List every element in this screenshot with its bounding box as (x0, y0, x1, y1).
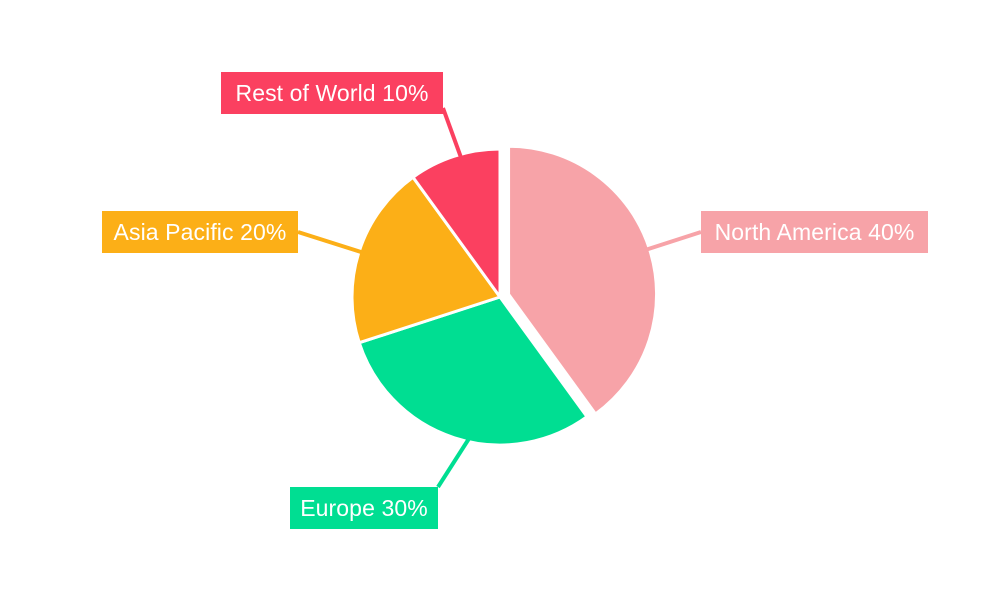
slice-label-text-rest-of-world: Rest of World 10% (235, 82, 428, 105)
leader-line-asia-pacific (298, 232, 361, 252)
slice-label-asia-pacific[interactable]: Asia Pacific 20% (102, 211, 298, 253)
slice-label-text-north-america: North America 40% (715, 221, 915, 244)
slice-label-text-europe: Europe 30% (300, 497, 428, 520)
pie-chart-figure: North America 40% Europe 30% Asia Pacifi… (0, 0, 1000, 600)
slice-label-north-america[interactable]: North America 40% (701, 211, 928, 253)
slice-label-text-asia-pacific: Asia Pacific 20% (114, 221, 287, 244)
pie-chart-canvas (0, 0, 1000, 600)
slice-label-rest-of-world[interactable]: Rest of World 10% (221, 72, 443, 114)
slice-label-europe[interactable]: Europe 30% (290, 487, 438, 529)
pie-slices-group (352, 146, 657, 445)
leader-line-europe (438, 437, 470, 487)
